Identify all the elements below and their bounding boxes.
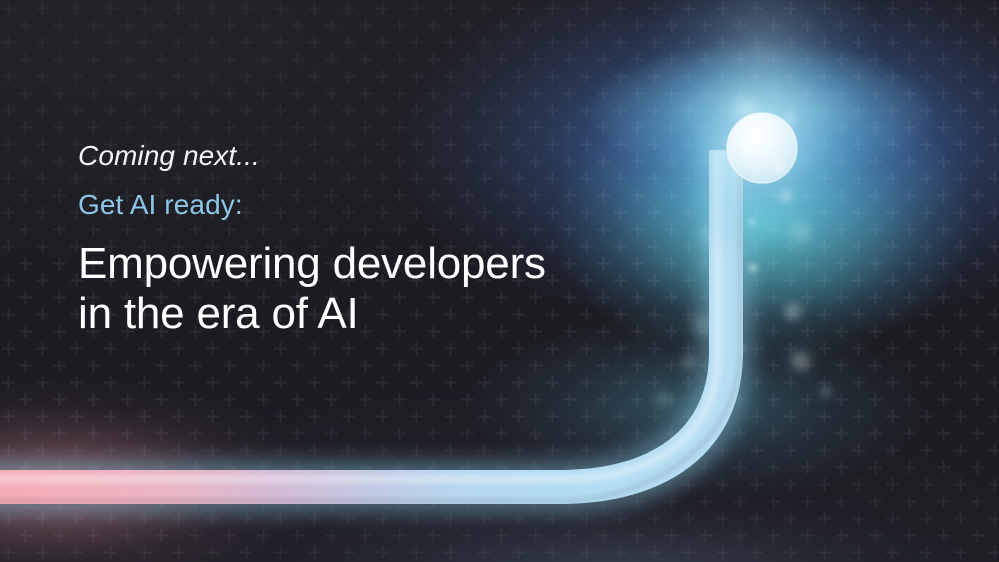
text-block: Coming next... Get AI ready: Empowering … [78, 139, 598, 339]
kicker-text: Get AI ready: [78, 188, 598, 221]
page-title: Empowering developers in the era of AI [78, 239, 598, 338]
slide-canvas: Coming next... Get AI ready: Empowering … [0, 0, 999, 562]
headline-line-2: in the era of AI [78, 289, 598, 339]
eyebrow-text: Coming next... [78, 139, 598, 172]
orb-highlight [744, 126, 766, 146]
orb-secondary-highlight [773, 158, 785, 174]
headline-line-1: Empowering developers [78, 239, 598, 289]
